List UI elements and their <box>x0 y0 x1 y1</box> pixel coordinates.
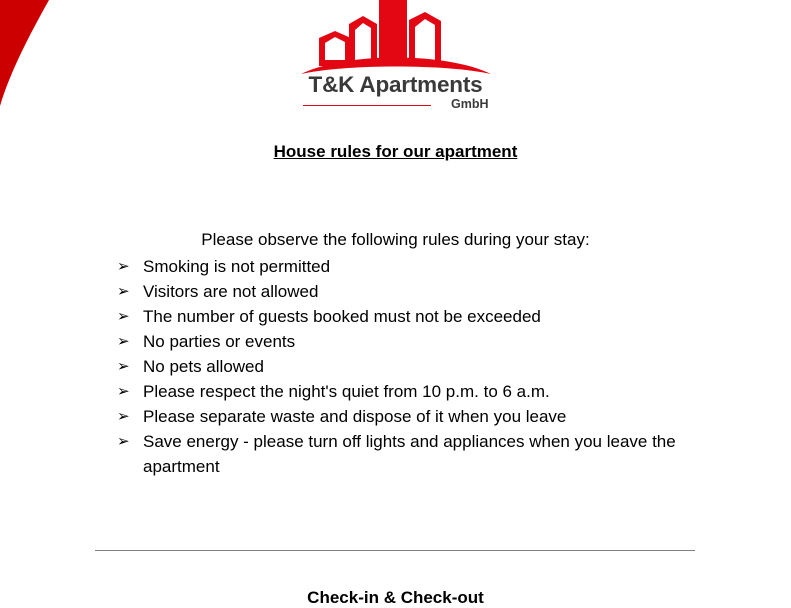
bullet-arrow-icon: ➢ <box>117 379 130 404</box>
rule-item: ➢Please respect the night's quiet from 1… <box>117 379 717 404</box>
bullet-arrow-icon: ➢ <box>117 304 130 329</box>
logo-underline-rule <box>303 105 431 106</box>
buildings-logo-icon <box>301 0 491 78</box>
bullet-arrow-icon: ➢ <box>117 254 130 279</box>
bullet-arrow-icon: ➢ <box>117 279 130 304</box>
bullet-arrow-icon: ➢ <box>117 404 130 429</box>
bullet-arrow-icon: ➢ <box>117 354 130 379</box>
logo-wordmark: T&K Apartments GmbH <box>0 74 791 113</box>
rule-item: ➢Smoking is not permitted <box>117 254 717 279</box>
section-divider <box>95 550 695 551</box>
rule-item-label: No parties or events <box>143 332 295 351</box>
intro-text: Please observe the following rules durin… <box>0 230 791 250</box>
bullet-arrow-icon: ➢ <box>117 329 130 354</box>
page-title: House rules for our apartment <box>0 142 791 162</box>
rule-item: ➢Please separate waste and dispose of it… <box>117 404 717 429</box>
rule-item: ➢Visitors are not allowed <box>117 279 717 304</box>
rule-item-label: Visitors are not allowed <box>143 282 318 301</box>
rule-item-label: No pets allowed <box>143 357 264 376</box>
rule-item-label: Save energy - please turn off lights and… <box>143 432 676 476</box>
house-rules-list: ➢Smoking is not permitted➢Visitors are n… <box>117 254 717 479</box>
rule-item-label: Smoking is not permitted <box>143 257 330 276</box>
logo-company-name: T&K Apartments <box>0 74 791 97</box>
rule-item: ➢The number of guests booked must not be… <box>117 304 717 329</box>
logo-sub-row: GmbH <box>303 98 489 113</box>
bullet-arrow-icon: ➢ <box>117 429 130 454</box>
rule-item: ➢No parties or events <box>117 329 717 354</box>
rule-item: ➢No pets allowed <box>117 354 717 379</box>
rule-item-label: The number of guests booked must not be … <box>143 307 541 326</box>
rule-item: ➢Save energy - please turn off lights an… <box>117 429 717 479</box>
rule-item-label: Please respect the night's quiet from 10… <box>143 382 550 401</box>
footer-heading: Check-in & Check-out <box>0 588 791 608</box>
logo-legal-form: GmbH <box>451 98 489 111</box>
brand-logo: T&K Apartments GmbH <box>0 0 791 113</box>
rule-item-label: Please separate waste and dispose of it … <box>143 407 566 426</box>
